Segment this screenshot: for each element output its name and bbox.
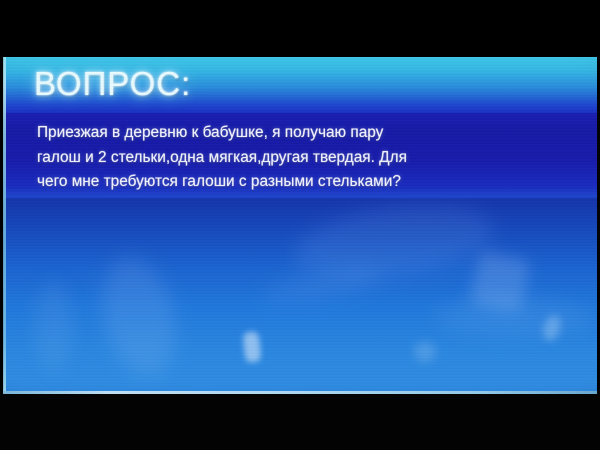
question-text: Приезжая в деревню к бабушке, я получаю … xyxy=(37,121,565,195)
slide-left-highlight xyxy=(3,57,6,393)
background-ghost-rectangle xyxy=(469,250,531,314)
page-title: ВОПРОС: xyxy=(34,65,191,103)
background-wisp xyxy=(434,297,594,337)
question-line: Приезжая в деревню к бабушке, я получаю … xyxy=(37,121,565,146)
letterbox-bottom xyxy=(0,394,600,450)
background-wisp xyxy=(263,262,386,308)
background-wisp xyxy=(414,342,436,362)
quiz-slide: ВОПРОС: Приезжая в деревню к бабушке, я … xyxy=(4,57,598,394)
background-wisp xyxy=(541,313,564,342)
background-wisp xyxy=(290,193,498,290)
background-wisp xyxy=(34,282,74,372)
letterbox-top xyxy=(0,0,600,57)
tv-screen: ВОПРОС: Приезжая в деревню к бабушке, я … xyxy=(0,0,600,450)
question-line: чего мне требуются галоши с разными стел… xyxy=(37,170,565,195)
slide-header-band: ВОПРОС: xyxy=(4,57,598,113)
question-panel: Приезжая в деревню к бабушке, я получаю … xyxy=(4,113,598,198)
question-line: галош и 2 стельки,одна мягкая,другая тве… xyxy=(37,146,565,171)
background-wisp xyxy=(91,250,188,383)
letterbox-left xyxy=(0,55,3,395)
background-highlight-mark xyxy=(242,331,261,363)
